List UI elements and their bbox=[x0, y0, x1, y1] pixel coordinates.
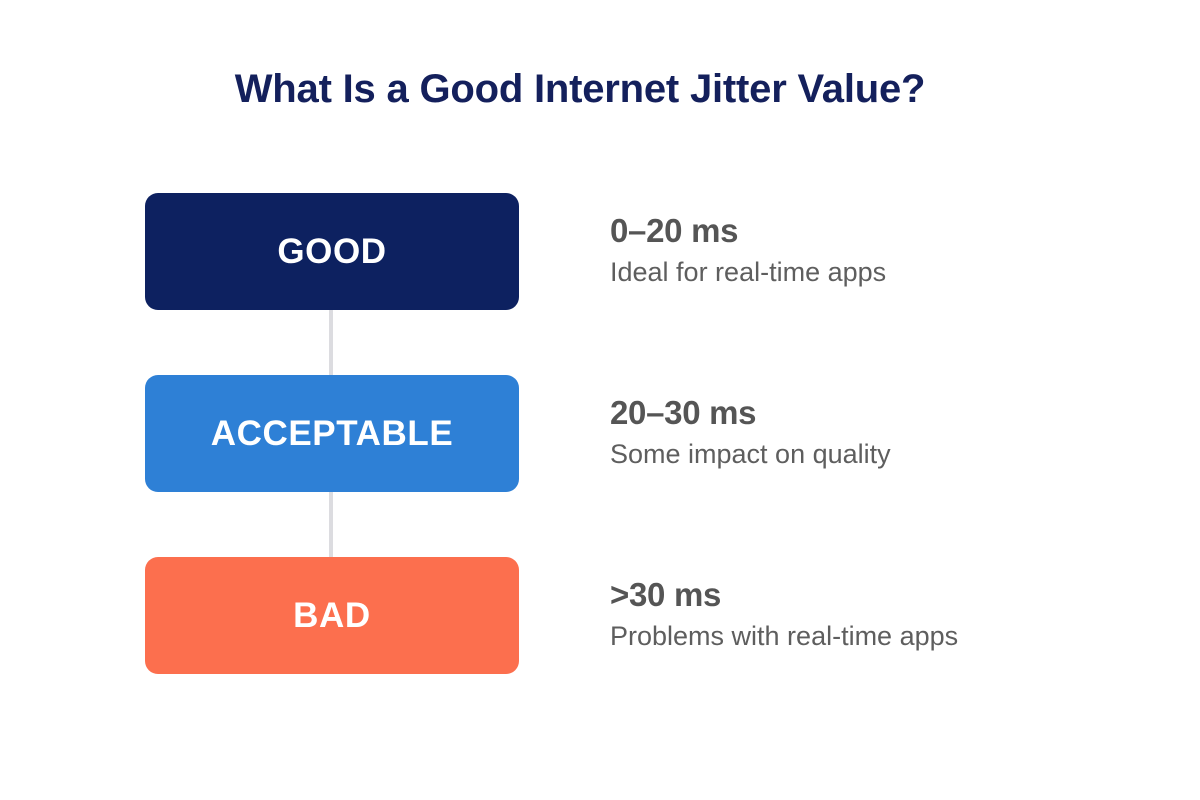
tier-note-good: Ideal for real-time apps bbox=[610, 255, 1150, 290]
tier-range-acceptable: 20–30 ms bbox=[610, 394, 1150, 433]
tier-badge-label-good: GOOD bbox=[277, 234, 386, 269]
tier-badge-acceptable[interactable]: ACCEPTABLE bbox=[145, 375, 519, 492]
jitter-tier-list: GOOD 0–20 ms Ideal for real-time apps AC… bbox=[145, 193, 1155, 674]
connector-line-acceptable-bad bbox=[329, 492, 333, 557]
connector-line-good-acceptable bbox=[329, 310, 333, 375]
tier-detail-acceptable: 20–30 ms Some impact on quality bbox=[610, 375, 1150, 492]
tier-badge-label-bad: BAD bbox=[293, 598, 371, 633]
tier-badge-good[interactable]: GOOD bbox=[145, 193, 519, 310]
tier-badge-bad[interactable]: BAD bbox=[145, 557, 519, 674]
tier-row-good: GOOD 0–20 ms Ideal for real-time apps bbox=[145, 193, 1155, 310]
infographic-canvas: What Is a Good Internet Jitter Value? GO… bbox=[0, 0, 1200, 800]
tier-range-bad: >30 ms bbox=[610, 576, 1150, 615]
tier-row-bad: BAD >30 ms Problems with real-time apps bbox=[145, 557, 1155, 674]
tier-detail-good: 0–20 ms Ideal for real-time apps bbox=[610, 193, 1150, 310]
tier-badge-label-acceptable: ACCEPTABLE bbox=[211, 416, 454, 451]
tier-row-acceptable: ACCEPTABLE 20–30 ms Some impact on quali… bbox=[145, 375, 1155, 492]
tier-note-bad: Problems with real-time apps bbox=[610, 619, 1150, 654]
tier-detail-bad: >30 ms Problems with real-time apps bbox=[610, 557, 1150, 674]
page-title: What Is a Good Internet Jitter Value? bbox=[0, 66, 1160, 112]
tier-range-good: 0–20 ms bbox=[610, 212, 1150, 251]
tier-note-acceptable: Some impact on quality bbox=[610, 437, 1150, 472]
